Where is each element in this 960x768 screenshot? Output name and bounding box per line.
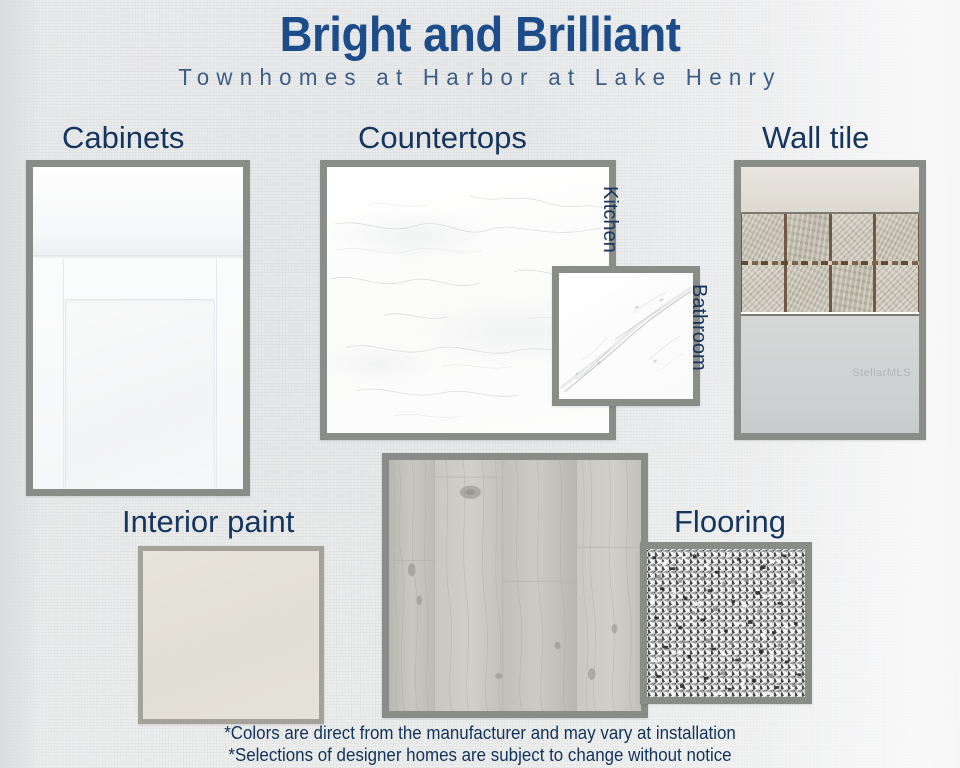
vinyl-plank-sample-image (389, 460, 641, 711)
section-heading-interior-paint: Interior paint (122, 504, 294, 540)
watermark-label: StellarMLS (852, 367, 911, 379)
cabinet-sample-image (33, 167, 243, 489)
page-title: Bright and Brilliant (34, 6, 927, 64)
design-selections-board: Bright and Brilliant Townhomes at Harbor… (0, 0, 960, 768)
wall-tile-cell (876, 214, 918, 262)
paint-color-chip (143, 551, 319, 719)
cabinet-sample-frame (26, 160, 250, 496)
cabinet-left-stile (63, 259, 64, 489)
cabinet-door-front (33, 259, 243, 489)
calacatta-marble-texture (559, 273, 693, 399)
vinyl-plank-sample-frame (382, 453, 648, 718)
wall-tile-cell (742, 214, 784, 262)
interior-paint-swatch (143, 551, 319, 719)
wall-tile-cell (742, 265, 784, 313)
page-subtitle: Townhomes at Harbor at Lake Henry (14, 62, 945, 92)
cabinet-recessed-panel (65, 299, 215, 489)
wall-tile-cell (787, 214, 829, 262)
bathroom-countertop-label: Bathroom (688, 284, 710, 371)
cabinet-right-stile (216, 259, 217, 489)
section-heading-wall-tile: Wall tile (762, 120, 869, 156)
disclaimer-line-1: *Colors are direct from the manufacturer… (29, 722, 931, 744)
carpet-sample-image (647, 549, 805, 697)
wall-tile-cell (832, 265, 874, 313)
wall-tile-cell (876, 265, 918, 313)
disclaimer-line-2: *Selections of designer homes are subjec… (29, 744, 931, 766)
footer-disclaimers: *Colors are direct from the manufacturer… (0, 722, 960, 766)
interior-paint-swatch-frame (138, 546, 324, 724)
wall-tile-accent-strip (741, 261, 919, 265)
section-heading-countertops: Countertops (358, 120, 527, 156)
wall-tile-cell (787, 265, 829, 313)
wall-tile-sample-frame: StellarMLS (734, 160, 926, 440)
carpet-sample-frame (640, 542, 812, 704)
section-heading-flooring: Flooring (674, 504, 786, 540)
cabinet-drawer-front (33, 167, 243, 256)
section-heading-cabinets: Cabinets (62, 120, 184, 156)
wood-grain-icon (389, 460, 641, 711)
berber-carpet-texture (647, 549, 805, 697)
bathroom-countertop-sample-image (559, 273, 693, 399)
wall-tile-top-band (741, 167, 919, 214)
bathroom-countertop-sample-frame (552, 266, 700, 406)
wall-tile-sample-image: StellarMLS (741, 167, 919, 433)
kitchen-countertop-label: Kitchen (599, 186, 621, 253)
carpet-fleck-icon (647, 549, 805, 697)
wall-tile-cell (832, 214, 874, 262)
gray-oak-plank-texture (389, 460, 641, 711)
marble-veining-icon (559, 273, 693, 399)
